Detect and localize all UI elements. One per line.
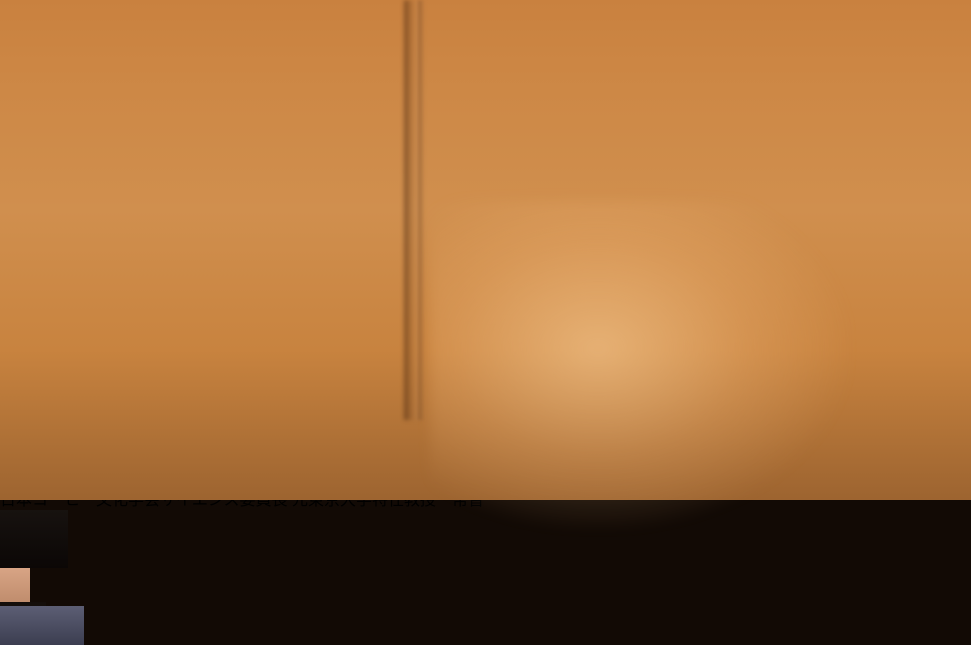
wall-warm-glow [430,200,850,530]
column-edge-highlight [418,0,425,420]
attendee-face [0,568,30,602]
photograph-canvas: 世界を救う大切なものを発見する コーヒーワールド ? SUSTAINABLE D… [0,0,971,645]
attendee-back-center [0,510,72,606]
attendee-torso [0,510,68,568]
attendee-torso [0,606,84,645]
attendee-back-right [0,606,84,645]
